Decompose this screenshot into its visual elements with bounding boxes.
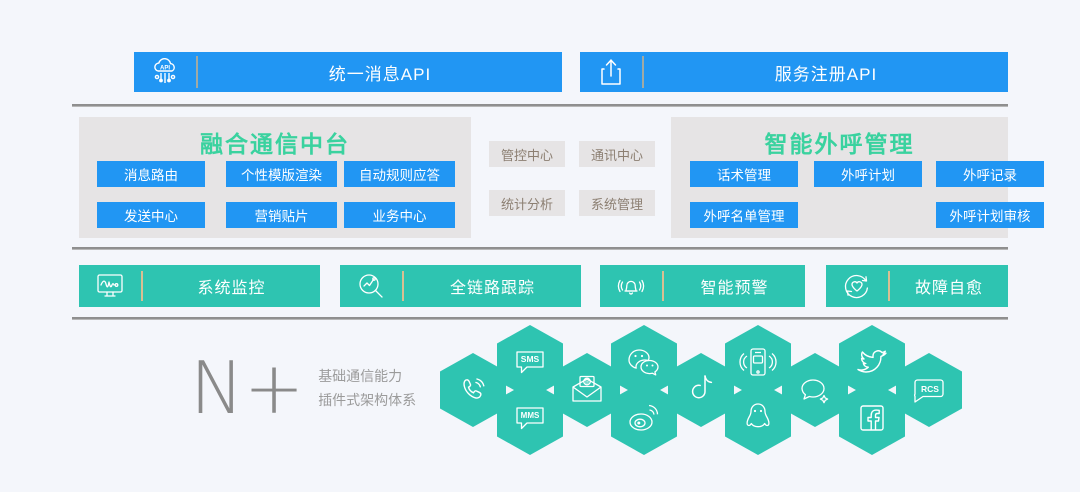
center-button-comm-center[interactable]: 通讯中心 [579, 141, 655, 167]
divider-line-middle [72, 247, 1008, 250]
bell-alert-icon [600, 265, 662, 307]
panel-title: 融合通信中台 [79, 125, 471, 159]
channel-hex-facebook[interactable] [839, 381, 905, 455]
capability-bar-label: 系统监控 [143, 274, 320, 298]
panel-button-outbound-list-mgmt[interactable]: 外呼名单管理 [690, 202, 798, 228]
panel-fusion-communication: 融合通信中台 消息路由 个性模版渲染 自动规则应答 发送中心 营销贴片 业务中心 [79, 117, 471, 238]
panel-button-script-mgmt[interactable]: 话术管理 [690, 161, 798, 187]
api-bar-separator [196, 56, 198, 88]
facebook-icon [855, 401, 889, 435]
panel-button-send-center[interactable]: 发送中心 [97, 202, 205, 228]
panel-button-outbound-plan-audit[interactable]: 外呼计划审核 [936, 202, 1044, 228]
nplus-glyph: N+ [190, 352, 304, 424]
channel-hex-chat[interactable] [782, 353, 848, 427]
capability-bar-system-monitor[interactable]: 系统监控 [79, 265, 320, 307]
cloud-api-icon: API [134, 52, 196, 92]
svg-text:@: @ [585, 380, 590, 385]
capability-bar-label: 智能预警 [664, 274, 805, 298]
channel-hex-rcs[interactable]: RCS [896, 353, 962, 427]
twitter-bird-icon [853, 346, 891, 378]
channel-hex-qq[interactable] [725, 381, 791, 455]
panel-button-message-routing[interactable]: 消息路由 [97, 161, 205, 187]
panel-title: 智能外呼管理 [671, 125, 1008, 159]
tiktok-icon [685, 372, 717, 408]
diagram-canvas: API 统一消息API 服务注册API 融合通信中台 消息路由 个性模版渲染 自… [0, 0, 1080, 492]
chat-spark-icon [796, 374, 834, 406]
rcs-bubble-icon: RCS [909, 374, 949, 406]
divider-line-top [72, 104, 1008, 107]
channel-hex-tiktok[interactable] [668, 353, 734, 427]
panel-button-auto-rule-reply[interactable]: 自动规则应答 [344, 161, 455, 187]
panel-button-outbound-record[interactable]: 外呼记录 [936, 161, 1044, 187]
svg-text:API: API [160, 66, 170, 72]
capability-bar-smart-alert[interactable]: 智能预警 [600, 265, 805, 307]
api-bar-unified-message[interactable]: API 统一消息API [134, 52, 562, 92]
wechat-icon [625, 346, 663, 378]
capability-bar-label: 全链路跟踪 [404, 274, 581, 298]
capability-bar-full-link-trace[interactable]: 全链路跟踪 [340, 265, 581, 307]
center-button-statistics[interactable]: 统计分析 [489, 190, 565, 216]
share-upload-icon [580, 52, 642, 92]
api-bar-label: 统一消息API [198, 60, 562, 85]
panel-button-business-center[interactable]: 业务中心 [344, 202, 455, 228]
phone-call-icon [456, 373, 490, 407]
channel-hex-email[interactable]: @ [554, 353, 620, 427]
qq-penguin-icon [742, 400, 774, 436]
capability-bar-label: 故障自愈 [890, 274, 1008, 298]
divider-line-bottom [72, 317, 1008, 320]
email-at-icon: @ [568, 374, 606, 406]
svg-text:MMS: MMS [521, 411, 540, 420]
nplus-block: N+ 基础通信能力 插件式架构体系 [190, 352, 416, 424]
svg-text:SMS: SMS [521, 354, 540, 364]
nplus-description: 基础通信能力 插件式架构体系 [318, 364, 416, 412]
capability-bar-self-healing[interactable]: 故障自愈 [826, 265, 1008, 307]
weibo-icon [625, 401, 663, 435]
heart-refresh-icon [826, 265, 888, 307]
channel-hexagon-cluster: SMS MMS @ [440, 325, 960, 455]
panel-button-outbound-plan[interactable]: 外呼计划 [814, 161, 922, 187]
nplus-line-2: 插件式架构体系 [318, 388, 416, 412]
channel-hex-mms[interactable]: MMS [497, 381, 563, 455]
mms-bubble-icon: MMS [511, 401, 549, 435]
panel-button-template-render[interactable]: 个性模版渲染 [226, 161, 337, 187]
api-bar-label: 服务注册API [644, 60, 1008, 85]
svg-text:RCS: RCS [921, 384, 939, 394]
center-button-system-mgmt[interactable]: 系统管理 [579, 190, 655, 216]
panel-smart-outbound: 智能外呼管理 话术管理 外呼计划 外呼记录 外呼名单管理 外呼计划审核 [671, 117, 1008, 238]
channel-hex-weibo[interactable] [611, 381, 677, 455]
center-button-control-center[interactable]: 管控中心 [489, 141, 565, 167]
nplus-line-1: 基础通信能力 [318, 364, 416, 388]
phone-vibrate-icon [739, 345, 777, 379]
magnifier-trace-icon [340, 265, 402, 307]
sms-bubble-icon: SMS [511, 345, 549, 379]
monitor-pulse-icon [79, 265, 141, 307]
api-bar-service-register[interactable]: 服务注册API [580, 52, 1008, 92]
panel-button-marketing-patch[interactable]: 营销贴片 [226, 202, 337, 228]
channel-hex-phone[interactable] [440, 353, 506, 427]
api-bar-separator [642, 56, 644, 88]
